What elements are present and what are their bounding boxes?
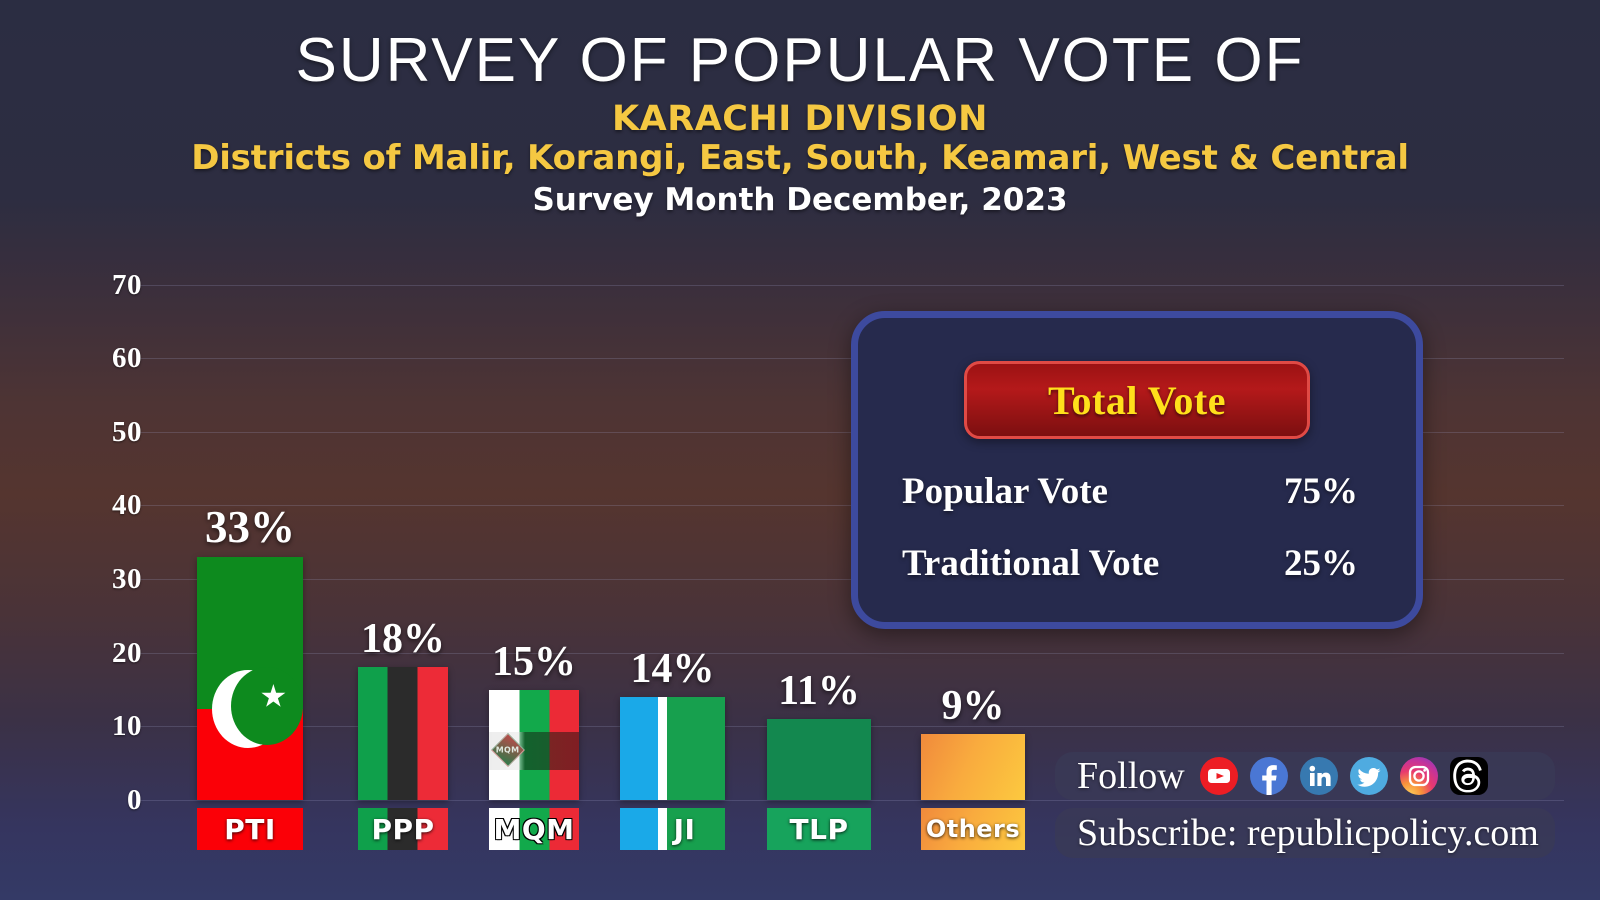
y-axis-tick-10: 10 [72, 712, 142, 741]
follow-bar: Follow [1055, 752, 1555, 800]
subtitle-survey-month: Survey Month December, 2023 [0, 183, 1600, 217]
y-axis-tick-20: 20 [72, 639, 142, 668]
bar-ppp[interactable] [358, 667, 448, 800]
x-axis-label-ji: JI [620, 808, 725, 850]
total-vote-card: Total Vote Popular Vote 75% Traditional … [851, 311, 1423, 629]
y-axis-tick-70: 70 [72, 271, 142, 300]
x-axis-label-text-ji: JI [674, 813, 696, 846]
x-axis-label-text-tlp: TLP [790, 813, 849, 846]
gridline-70 [140, 285, 1564, 286]
subscribe-label[interactable]: Subscribe: republicpolicy.com [1077, 811, 1539, 855]
popular-vote-label: Popular Vote [902, 470, 1108, 513]
gridline-0 [140, 800, 1564, 801]
x-axis-label-text-pti: PTI [224, 813, 276, 846]
traditional-vote-value: 25% [1284, 542, 1358, 585]
bar-ji[interactable] [620, 697, 725, 800]
pti-crescent-star-emblem [212, 670, 284, 748]
mqm-logo-band: MQM [489, 732, 579, 770]
total-vote-row-popular: Popular Vote 75% [902, 470, 1392, 513]
subtitle-districts: Districts of Malir, Korangi, East, South… [0, 140, 1600, 177]
bar-column-tlp[interactable]: 11% TLP [767, 719, 871, 800]
twitter-icon[interactable] [1349, 756, 1389, 796]
subscribe-bar[interactable]: Subscribe: republicpolicy.com [1055, 808, 1555, 858]
threads-icon[interactable] [1449, 756, 1489, 796]
total-vote-row-traditional: Traditional Vote 25% [902, 542, 1392, 585]
bar-value-mqm: 15% [492, 641, 576, 683]
bar-column-others[interactable]: 9% Others [921, 734, 1025, 800]
y-axis-tick-30: 30 [72, 565, 142, 594]
mqm-kite-label: MQM [496, 746, 520, 755]
x-axis-label-text-ppp: PPP [371, 813, 434, 846]
bar-column-ji[interactable]: 14% JI [620, 697, 725, 800]
page-title: SURVEY OF POPULAR VOTE OF [0, 28, 1600, 93]
follow-label: Follow [1077, 754, 1185, 798]
bar-others[interactable] [921, 734, 1025, 800]
total-vote-pill-label: Total Vote [1048, 377, 1226, 424]
subtitle-division: KARACHI DIVISION [0, 101, 1600, 138]
x-axis-label-tlp: TLP [767, 808, 871, 850]
x-axis-label-mqm: MQM [489, 808, 579, 850]
bar-mqm[interactable]: MQM [489, 690, 579, 800]
bar-tlp[interactable] [767, 719, 871, 800]
bar-column-pti[interactable]: 33% PTI [197, 557, 303, 800]
popular-vote-value: 75% [1284, 470, 1358, 513]
crescent-icon [212, 670, 284, 748]
y-axis-tick-40: 40 [72, 491, 142, 520]
header: SURVEY OF POPULAR VOTE OF KARACHI DIVISI… [0, 0, 1600, 217]
bar-value-ji: 14% [631, 648, 715, 690]
youtube-icon[interactable] [1199, 756, 1239, 796]
facebook-icon[interactable] [1249, 756, 1289, 796]
x-axis-label-pti: PTI [197, 808, 303, 850]
linkedin-icon[interactable] [1299, 756, 1339, 796]
x-axis-label-text-mqm: MQM [493, 813, 574, 846]
mqm-kite-icon: MQM [491, 733, 525, 767]
total-vote-pill: Total Vote [964, 361, 1310, 439]
bar-column-ppp[interactable]: 18% PPP [358, 667, 448, 800]
y-axis-tick-60: 60 [72, 344, 142, 373]
bar-value-others: 9% [942, 685, 1005, 727]
y-axis-tick-0: 0 [72, 786, 142, 815]
x-axis-label-ppp: PPP [358, 808, 448, 850]
x-label-flag-fill-ji [620, 808, 725, 850]
gridline-20 [140, 653, 1564, 654]
instagram-icon[interactable] [1399, 756, 1439, 796]
bar-value-ppp: 18% [361, 618, 445, 660]
traditional-vote-label: Traditional Vote [902, 542, 1159, 585]
bar-value-tlp: 11% [778, 670, 860, 712]
bar-value-pti: 33% [205, 505, 295, 550]
x-axis-label-others: Others [921, 808, 1025, 850]
x-axis-label-text-others: Others [926, 815, 1020, 843]
y-axis-tick-50: 50 [72, 418, 142, 447]
bar-column-mqm[interactable]: 15% MQM MQM [489, 690, 579, 800]
bar-pti[interactable] [197, 557, 303, 800]
infographic-canvas: SURVEY OF POPULAR VOTE OF KARACHI DIVISI… [0, 0, 1600, 900]
